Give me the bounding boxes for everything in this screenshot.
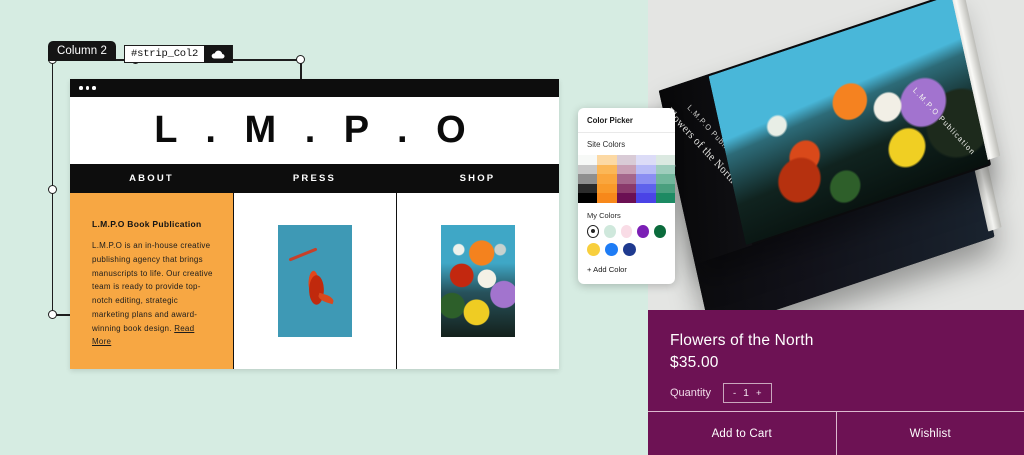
column-tag[interactable]: Column 2 — [48, 41, 116, 61]
column-tag-label: Column 2 — [57, 45, 107, 57]
pepper-photo — [278, 225, 352, 337]
my-color-r1-swatch-3[interactable] — [637, 225, 649, 238]
product-action-row: Add to Cart Wishlist — [648, 411, 1024, 455]
site-logo-area: L . M . P . O — [70, 97, 559, 164]
book-stage: Flowers of the North L.M.P.O Publication… — [648, 0, 1024, 310]
quantity-row: Quantity - 1 + — [670, 383, 1002, 403]
add-color-button[interactable]: + Add Color — [578, 256, 675, 274]
nav-item-press[interactable]: PRESS — [233, 173, 396, 184]
quantity-decrement-button[interactable]: - — [733, 388, 736, 399]
site-color-swatch-4-0[interactable] — [578, 193, 597, 203]
color-picker-title: Color Picker — [578, 108, 675, 133]
selection-handle-bottom-left[interactable] — [48, 310, 57, 319]
my-color-r1-swatch-1[interactable] — [604, 225, 616, 238]
site-color-swatch-0-3[interactable] — [636, 155, 655, 165]
selection-handle-top-right[interactable] — [296, 55, 305, 64]
my-color-r1-swatch-2[interactable] — [621, 225, 633, 238]
site-color-swatch-3-2[interactable] — [617, 184, 636, 194]
site-color-swatch-3-3[interactable] — [636, 184, 655, 194]
product-info: Flowers of the North $35.00 Quantity - 1… — [648, 310, 1024, 411]
site-color-swatch-0-0[interactable] — [578, 155, 597, 165]
site-color-swatch-2-4[interactable] — [656, 174, 675, 184]
site-color-swatch-4-1[interactable] — [597, 193, 616, 203]
my-color-r2-swatch-2[interactable] — [623, 243, 636, 256]
site-color-swatch-2-1[interactable] — [597, 174, 616, 184]
nav-item-shop[interactable]: SHOP — [396, 173, 559, 184]
my-color-r1-swatch-4[interactable] — [654, 225, 666, 238]
nav-item-about[interactable]: ABOUT — [70, 173, 233, 184]
site-cards: L.M.P.O Book Publication L.M.P.O is an i… — [70, 193, 559, 369]
site-colors-label: Site Colors — [578, 133, 675, 155]
site-color-swatch-1-0[interactable] — [578, 165, 597, 175]
site-color-swatch-1-1[interactable] — [597, 165, 616, 175]
site-color-swatch-2-0[interactable] — [578, 174, 597, 184]
my-color-r2-swatch-1[interactable] — [605, 243, 618, 256]
site-color-swatch-2-2[interactable] — [617, 174, 636, 184]
wishlist-button[interactable]: Wishlist — [836, 412, 1024, 455]
site-color-swatch-3-0[interactable] — [578, 184, 597, 194]
product-price: $35.00 — [670, 354, 1002, 372]
site-color-swatch-4-3[interactable] — [636, 193, 655, 203]
window-dots — [70, 79, 559, 97]
my-colors-row-2[interactable] — [578, 238, 675, 256]
site-color-swatch-0-1[interactable] — [597, 155, 616, 165]
strip-tag-label: #strip_Col2 — [131, 48, 198, 60]
site-colors-grid[interactable] — [578, 155, 675, 203]
site-logo: L . M . P . O — [154, 109, 474, 152]
site-color-swatch-1-3[interactable] — [636, 165, 655, 175]
color-picker-panel: Color Picker Site Colors My Colors + Add… — [578, 108, 675, 284]
text-card-body: L.M.P.O is an in-house creative publishi… — [92, 239, 215, 349]
site-color-swatch-0-2[interactable] — [617, 155, 636, 165]
site-color-swatch-0-4[interactable] — [656, 155, 675, 165]
screen: Flowers of the North L.M.P.O Publication… — [0, 0, 1024, 455]
text-card-body-text: L.M.P.O is an in-house creative publishi… — [92, 241, 213, 333]
quantity-increment-button[interactable]: + — [756, 388, 762, 399]
my-colors-row-1[interactable] — [578, 220, 675, 238]
site-mockup: L . M . P . O ABOUT PRESS SHOP L.M.P.O B… — [70, 79, 559, 369]
image-card-bouquet[interactable] — [396, 193, 559, 369]
selection-handle-mid-left[interactable] — [48, 185, 57, 194]
site-color-swatch-1-2[interactable] — [617, 165, 636, 175]
site-color-swatch-4-4[interactable] — [656, 193, 675, 203]
my-colors-label: My Colors — [578, 203, 675, 220]
quantity-value: 1 — [743, 387, 749, 399]
strip-tag[interactable]: #strip_Col2 — [124, 45, 233, 63]
site-nav: ABOUT PRESS SHOP — [70, 164, 559, 193]
text-card-heading: L.M.P.O Book Publication — [92, 219, 215, 229]
bouquet-photo — [441, 225, 515, 337]
my-color-r1-swatch-0[interactable] — [587, 225, 599, 238]
image-card-pepper[interactable] — [233, 193, 396, 369]
product-title: Flowers of the North — [670, 332, 1002, 350]
product-preview-pane: Flowers of the North L.M.P.O Publication… — [648, 0, 1024, 455]
site-color-swatch-3-1[interactable] — [597, 184, 616, 194]
book-cover-label: L.M.P.O Publication — [911, 86, 977, 158]
cloud-icon[interactable] — [204, 45, 232, 63]
add-to-cart-button[interactable]: Add to Cart — [648, 412, 836, 455]
quantity-label: Quantity — [670, 387, 711, 399]
my-color-r2-swatch-0[interactable] — [587, 243, 600, 256]
site-color-swatch-1-4[interactable] — [656, 165, 675, 175]
site-color-swatch-2-3[interactable] — [636, 174, 655, 184]
quantity-stepper[interactable]: - 1 + — [723, 383, 772, 403]
text-card[interactable]: L.M.P.O Book Publication L.M.P.O is an i… — [70, 193, 233, 369]
site-color-swatch-4-2[interactable] — [617, 193, 636, 203]
site-color-swatch-3-4[interactable] — [656, 184, 675, 194]
